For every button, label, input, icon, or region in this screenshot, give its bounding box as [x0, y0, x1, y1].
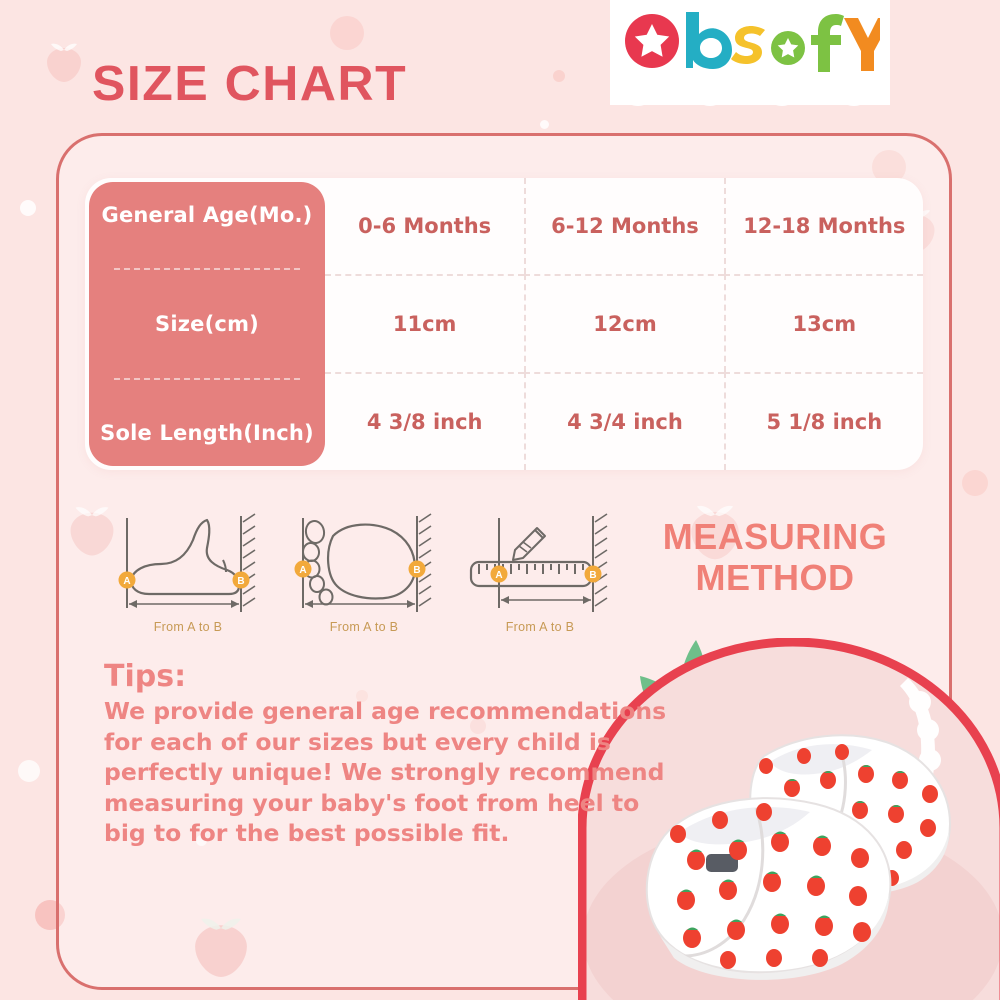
- header-divider-1: [114, 268, 300, 270]
- logo-letter-s-yellow: [731, 26, 765, 64]
- product-photo: [578, 638, 1000, 1000]
- ruler-diagram-caption: From A to B: [457, 620, 623, 634]
- svg-text:A: A: [495, 570, 502, 581]
- row-header-size-cm: Size(cm): [149, 312, 265, 336]
- svg-text:A: A: [299, 565, 306, 576]
- foot-side-view-caption: From A to B: [105, 620, 271, 634]
- decor-dot-2: [20, 200, 36, 216]
- svg-text:B: B: [237, 576, 244, 587]
- brand-logo[interactable]: [622, 10, 880, 72]
- pencil-icon: [513, 528, 545, 560]
- table-cell-size-6-12: 12cm: [524, 274, 723, 372]
- table-cell-age-12-18: 12-18 Months: [724, 178, 923, 274]
- measuring-method-heading: MEASURING METHOD: [640, 516, 910, 598]
- row-header-sole-length: Sole Length(Inch): [94, 421, 320, 445]
- logo-letter-f-green: [811, 14, 844, 72]
- ruler-diagram: A B From A to B: [457, 512, 623, 632]
- strawberry-icon-1: [44, 38, 84, 84]
- logo-letter-h-teal: [686, 12, 732, 69]
- decor-dot-4: [540, 120, 549, 129]
- header-divider-2: [114, 378, 300, 380]
- decor-dot-1: [330, 16, 364, 50]
- svg-text:B: B: [413, 565, 420, 576]
- table-cell-age-0-6: 0-6 Months: [325, 178, 524, 274]
- table-cell-size-0-6: 11cm: [325, 274, 524, 372]
- logo-letter-y-orange: [844, 18, 880, 71]
- decor-dot-8: [962, 470, 988, 496]
- tips-line-3: perfectly unique! We strongly recommend: [104, 757, 604, 788]
- foot-top-view-diagram: A B From A to B: [281, 512, 447, 632]
- table-row-header-column: General Age(Mo.) Size(cm) Sole Length(In…: [89, 182, 325, 466]
- tips-block: Tips: We provide general age recommendat…: [104, 662, 604, 849]
- table-cell-sole-6-12: 4 3/4 inch: [524, 372, 723, 470]
- table-cell-sole-0-6: 4 3/8 inch: [325, 372, 524, 470]
- svg-text:A: A: [123, 576, 130, 587]
- size-chart-page: SIZE CHART General Age(Mo.) Size(cm) Sol…: [0, 0, 1000, 1000]
- foot-top-view-caption: From A to B: [281, 620, 447, 634]
- svg-text:B: B: [589, 570, 596, 581]
- size-chart-table: General Age(Mo.) Size(cm) Sole Length(In…: [85, 178, 923, 470]
- foot-side-view-diagram: A B From A to B: [105, 512, 271, 632]
- row-header-age: General Age(Mo.): [96, 203, 319, 227]
- decor-dot-3: [553, 70, 565, 82]
- table-cell-sole-12-18: 5 1/8 inch: [724, 372, 923, 470]
- measuring-heading-line1: MEASURING: [640, 516, 910, 557]
- tips-line-5: big to for the best possible fit.: [104, 818, 604, 849]
- tips-line-2: for each of our sizes but every child is: [104, 727, 604, 758]
- scallop-edge-icon: [610, 76, 890, 106]
- tips-title: Tips:: [104, 662, 604, 692]
- page-title: SIZE CHART: [92, 56, 407, 112]
- tips-line-4: measuring your baby's foot from heel to: [104, 788, 604, 819]
- decor-dot-5: [18, 760, 40, 782]
- measuring-diagrams: A B From A to B: [105, 512, 625, 632]
- measuring-heading-line2: METHOD: [640, 557, 910, 598]
- table-cell-age-6-12: 6-12 Months: [524, 178, 723, 274]
- table-cell-size-12-18: 13cm: [724, 274, 923, 372]
- tips-line-1: We provide general age recommendations: [104, 696, 604, 727]
